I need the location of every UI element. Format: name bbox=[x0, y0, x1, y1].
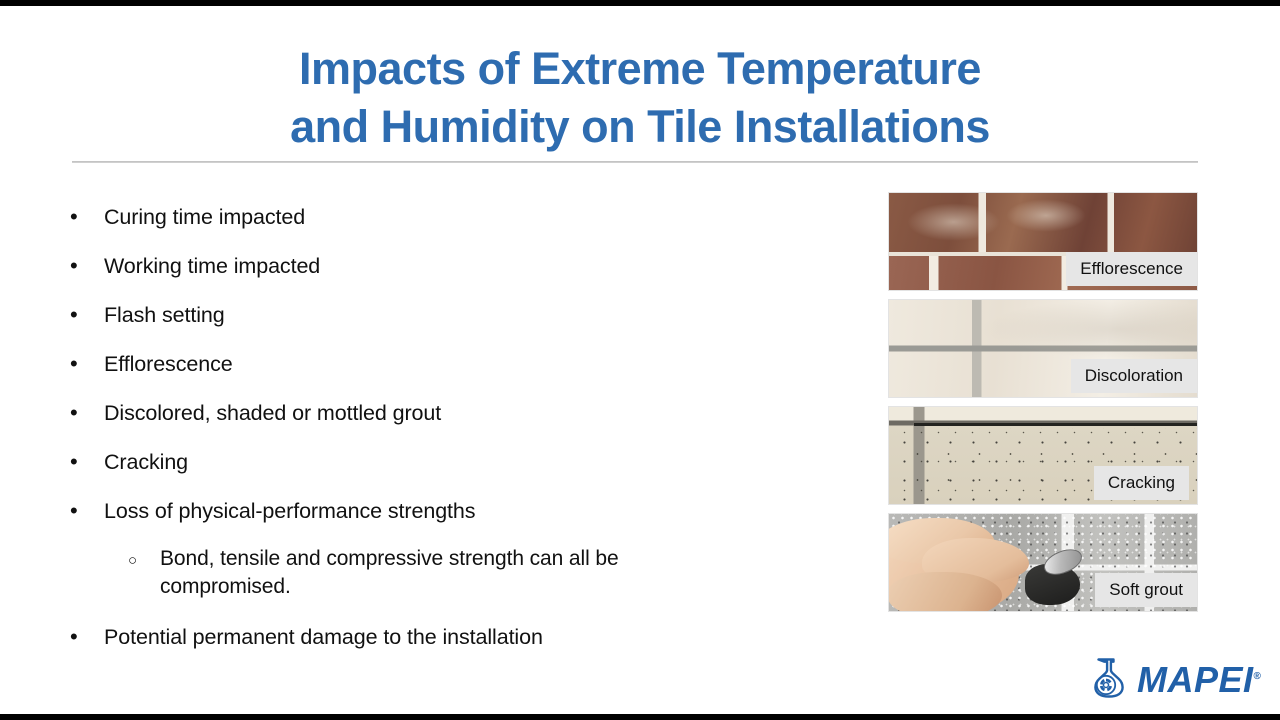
list-item: • Flash setting bbox=[70, 300, 810, 330]
bullet-marker-icon: • bbox=[70, 398, 104, 428]
slide-root: Impacts of Extreme Temperature and Humid… bbox=[0, 0, 1280, 720]
list-item-label: Loss of physical-performance strengths bbox=[104, 496, 810, 526]
list-item-label: Cracking bbox=[104, 447, 810, 477]
mapei-flask-icon bbox=[1085, 656, 1127, 700]
list-item: • Loss of physical-performance strengths bbox=[70, 496, 810, 526]
photo-panel-efflorescence: Efflorescence bbox=[888, 192, 1198, 291]
crack-line bbox=[914, 423, 1197, 426]
efflorescence-deposit bbox=[1006, 199, 1086, 232]
letterbox-bottom bbox=[0, 714, 1280, 720]
photo-panel-discoloration: Discoloration bbox=[888, 299, 1198, 398]
efflorescence-deposit bbox=[907, 203, 999, 242]
list-item-label: Discolored, shaded or mottled grout bbox=[104, 398, 810, 428]
title-divider bbox=[72, 161, 1198, 163]
list-item: • Potential permanent damage to the inst… bbox=[70, 622, 810, 652]
photo-panel-soft-grout: Soft grout bbox=[888, 513, 1198, 612]
photo-panel-cracking: Cracking bbox=[888, 406, 1198, 505]
bullet-marker-icon: • bbox=[70, 300, 104, 330]
sub-bullet-marker-icon: ○ bbox=[128, 545, 160, 577]
title-line-1: Impacts of Extreme Temperature bbox=[0, 40, 1280, 98]
photo-caption-discoloration: Discoloration bbox=[1071, 359, 1197, 393]
photo-caption-efflorescence: Efflorescence bbox=[1066, 252, 1197, 286]
list-item: • Curing time impacted bbox=[70, 202, 810, 232]
list-item: • Cracking bbox=[70, 447, 810, 477]
list-item-label: Curing time impacted bbox=[104, 202, 810, 232]
mapei-logo: MAPEI® bbox=[1085, 656, 1261, 700]
page-title: Impacts of Extreme Temperature and Humid… bbox=[0, 40, 1280, 156]
registered-trademark-icon: ® bbox=[1254, 671, 1262, 682]
list-item: • Discolored, shaded or mottled grout bbox=[70, 398, 810, 428]
bullet-marker-icon: • bbox=[70, 251, 104, 281]
photo-panel-group: Efflorescence Discoloration Cracking bbox=[888, 192, 1198, 620]
list-item-label: Flash setting bbox=[104, 300, 810, 330]
list-item: • Working time impacted bbox=[70, 251, 810, 281]
mapei-wordmark: MAPEI® bbox=[1137, 659, 1261, 698]
bullet-marker-icon: • bbox=[70, 622, 104, 652]
sub-list-item-label: Bond, tensile and compressive strength c… bbox=[160, 545, 665, 601]
letterbox-top bbox=[0, 0, 1280, 6]
bullet-marker-icon: • bbox=[70, 447, 104, 477]
bullet-list: • Curing time impacted • Working time im… bbox=[70, 202, 810, 671]
photo-caption-cracking: Cracking bbox=[1094, 466, 1189, 500]
sub-list-item: ○ Bond, tensile and compressive strength… bbox=[70, 545, 810, 601]
list-item-label: Efflorescence bbox=[104, 349, 810, 379]
bullet-marker-icon: • bbox=[70, 496, 104, 526]
mapei-word-text: MAPEI bbox=[1137, 659, 1254, 700]
title-line-2: and Humidity on Tile Installations bbox=[0, 98, 1280, 156]
bullet-marker-icon: • bbox=[70, 349, 104, 379]
list-item-label: Potential permanent damage to the instal… bbox=[104, 622, 810, 652]
hand-thumb bbox=[888, 572, 1002, 612]
hand-illustration bbox=[888, 516, 1043, 612]
bullet-marker-icon: • bbox=[70, 202, 104, 232]
slide-canvas: Impacts of Extreme Temperature and Humid… bbox=[0, 6, 1280, 714]
photo-caption-soft-grout: Soft grout bbox=[1095, 573, 1197, 607]
list-item: • Efflorescence bbox=[70, 349, 810, 379]
list-item-label: Working time impacted bbox=[104, 251, 810, 281]
